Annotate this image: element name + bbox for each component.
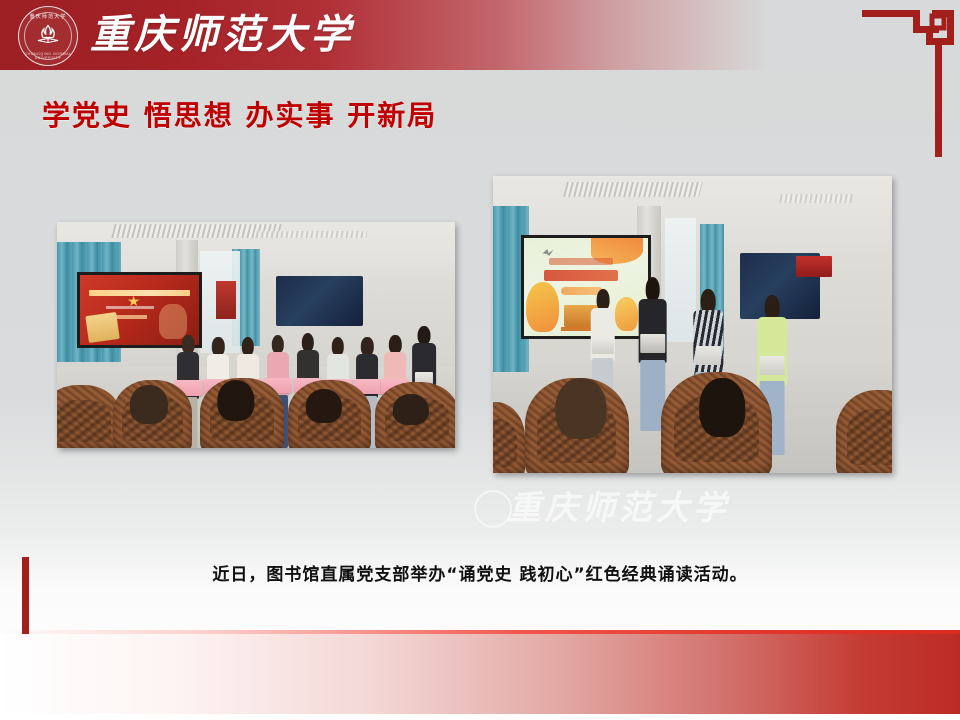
portrait-silhouette — [159, 304, 188, 339]
watermark-logo-icon — [474, 490, 512, 528]
seated-audience-member — [693, 378, 753, 473]
ceiling-panel-grid-far — [255, 231, 368, 238]
ceiling-panel-grid — [563, 182, 702, 197]
page-title: 学党史 悟思想 办实事 开新局 — [42, 94, 437, 134]
seated-audience-member — [212, 380, 260, 448]
watermark-text: 重庆师范大学 — [508, 488, 730, 527]
slide-content-green — [524, 238, 648, 336]
university-name: 重庆师范大学 — [90, 6, 354, 64]
slide-subtitle-bar — [106, 306, 154, 310]
footer-base — [0, 714, 960, 720]
ceiling-panel-grid-far — [779, 194, 852, 203]
corner-ornament-top-right-icon — [860, 0, 960, 165]
seated-audience-member — [300, 389, 348, 448]
header-banner: 重庆师范大学 CHONGQING NORMAL UNIVERSITY 重庆师范大… — [0, 0, 960, 70]
red-banner-stand — [216, 281, 236, 319]
watermark: 重庆师范大学 — [508, 486, 808, 530]
logo-chinese-text: 重庆师范大学 — [19, 13, 77, 20]
yellow-leaf-graphic-left — [526, 282, 558, 333]
red-led-sign — [796, 256, 832, 277]
university-logo-icon: 重庆师范大学 CHONGQING NORMAL UNIVERSITY — [18, 6, 78, 66]
yellow-leaf-graphic-right — [615, 297, 637, 330]
slide-heading-bar — [549, 258, 613, 265]
photo-recital-readers[interactable] — [493, 176, 892, 473]
bird-graphic — [542, 249, 553, 256]
projection-screen — [521, 235, 651, 339]
dark-display-panel — [276, 276, 364, 326]
photo-right-scene — [493, 176, 892, 473]
logo-flame-book-mark — [34, 22, 62, 48]
wicker-chair — [57, 385, 121, 448]
presentation-slide: 重庆师范大学 CHONGQING NORMAL UNIVERSITY 重庆师范大… — [0, 0, 960, 720]
seated-audience-member — [549, 378, 613, 473]
seated-audience-member — [125, 385, 173, 448]
slide-main-title-bar — [544, 270, 618, 281]
logo-english-text: CHONGQING NORMAL UNIVERSITY — [19, 52, 77, 60]
footer-band — [0, 634, 960, 714]
book-graphic — [85, 312, 119, 343]
seated-audience-member — [387, 394, 435, 448]
photo-left-scene — [57, 222, 455, 448]
caption-text: 近日，图书馆直属党支部举办“诵党史 践初心”红色经典诵读活动。 — [0, 560, 960, 585]
slide-title-bar — [89, 290, 189, 296]
photo-recital-group[interactable] — [57, 222, 455, 448]
